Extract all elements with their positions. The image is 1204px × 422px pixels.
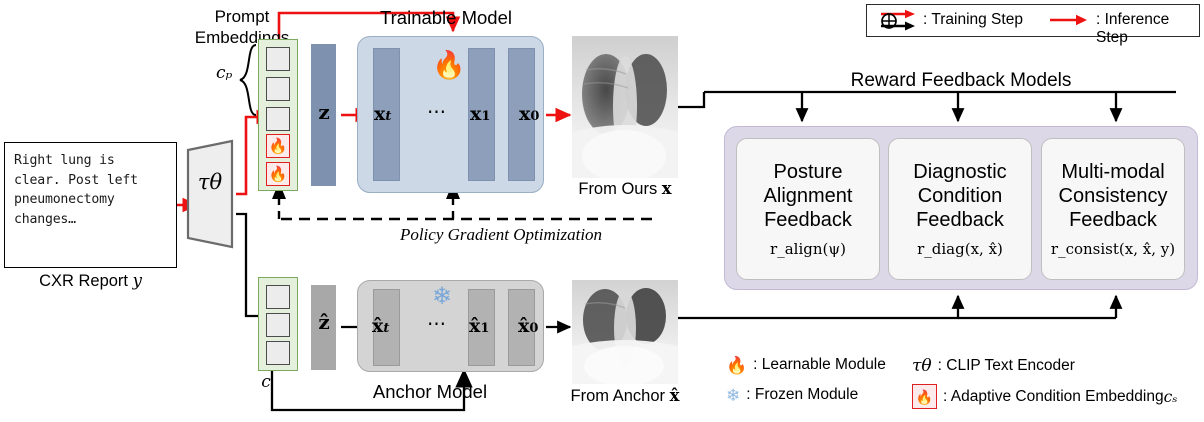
adaptive-condition-fire-icon: 🔥 <box>266 162 290 186</box>
reward-card-title: Diagnostic Condition Feedback <box>913 160 1006 232</box>
clip-text-encoder-shape <box>184 141 236 247</box>
chain-ellipsis: ⋯ <box>427 101 447 124</box>
legend-inference-label: : Inference Step <box>1096 11 1199 47</box>
chain-label-xhat-1: x̂1 <box>469 315 489 337</box>
legend-bottom: 🔥 : Learnable Module ❄ : Frozen Module τ… <box>726 356 1196 418</box>
embedding-square <box>266 107 290 131</box>
chain-label-x0: x0 <box>519 103 539 125</box>
training-step-icon <box>877 8 917 39</box>
cp-label: cₚ <box>216 63 232 83</box>
legend-adaptive-row: 🔥 : Adaptive Condition Embedding cₛ <box>912 384 1178 409</box>
chain-ellipsis: ⋯ <box>427 313 447 336</box>
prompt-embeddings-column-bottom <box>258 277 298 371</box>
embedding-square <box>266 47 290 71</box>
snowflake-icon: ❄ <box>432 285 452 309</box>
reward-card-formula: r_diag(x, x̂) <box>917 240 1003 258</box>
reward-card-title: Multi-modal Consistency Feedback <box>1059 160 1168 232</box>
embedding-square <box>266 285 290 309</box>
prompt-embeddings-column-top: 🔥 🔥 <box>258 39 298 191</box>
boxed-fire-icon: 🔥 <box>912 384 937 409</box>
tau-theta-symbol: τθ <box>912 356 932 376</box>
xray-anchor-symbol: x̂ <box>670 386 680 405</box>
chain-label-xhat-t: x̂t <box>372 315 389 337</box>
clip-text-encoder-label: τθ <box>184 170 236 194</box>
latent-z-label: z <box>305 100 343 124</box>
reward-card: Posture Alignment Feedback r_align(ψ) <box>736 138 880 280</box>
cxr-report-caption: CXR Report y <box>4 271 177 291</box>
embedding-square <box>266 341 290 365</box>
chain-label-xt: xt <box>374 103 391 125</box>
legend-encoder-row: τθ : CLIP Text Encoder <box>912 356 1075 376</box>
reward-card-formula: r_consist(x, x̂, y) <box>1051 240 1175 258</box>
reward-feedback-panel: Posture Alignment Feedback r_align(ψ) Di… <box>724 126 1198 290</box>
snowflake-icon: ❄ <box>726 387 740 404</box>
xray-ours-symbol: x <box>662 179 672 198</box>
chain-label-x1: x1 <box>470 103 490 125</box>
cp-brace-icon <box>238 43 258 117</box>
legend-learnable-row: 🔥 : Learnable Module <box>726 356 886 374</box>
trainable-model-title: Trainable Model <box>296 7 596 29</box>
reward-card-title: Posture Alignment Feedback <box>764 160 853 232</box>
latent-zhat-label: ẑ <box>305 310 343 334</box>
legend-top: : Training Step : Inference Step <box>866 4 1200 37</box>
reward-card: Multi-modal Consistency Feedback r_consi… <box>1041 138 1185 280</box>
legend-learnable-label: : Learnable Module <box>753 356 886 374</box>
c-label: c <box>258 372 274 392</box>
legend-adaptive-label: : Adaptive Condition Embedding <box>943 388 1164 406</box>
reward-card-formula: r_align(ψ) <box>770 240 846 258</box>
chain-label-xhat-0: x̂0 <box>518 315 538 337</box>
inference-arrow-icon <box>1049 13 1089 32</box>
fire-icon: 🔥 <box>726 357 747 374</box>
legend-adaptive-symbol: cₛ <box>1164 388 1178 406</box>
legend-frozen-row: ❄ : Frozen Module <box>726 386 858 404</box>
generated-xray-anchor <box>572 280 678 384</box>
generated-xray-ours <box>572 36 678 178</box>
fire-icon: 🔥 <box>432 52 466 79</box>
xray-anchor-caption: From Anchor x̂ <box>538 386 712 406</box>
cxr-report-box: Right lung is clear. Post left pneumonec… <box>4 142 177 268</box>
anchor-model-title: Anchor Model <box>315 381 545 403</box>
cxr-report-caption-text: CXR Report <box>39 272 133 290</box>
embedding-square <box>266 77 290 101</box>
xray-ours-caption-text: From Ours <box>578 180 661 198</box>
xray-anchor-caption-text: From Anchor <box>571 387 670 405</box>
adaptive-condition-fire-icon: 🔥 <box>266 134 290 158</box>
xray-ours-caption: From Ours x <box>538 179 712 199</box>
legend-training-label: : Training Step <box>923 11 1023 29</box>
reward-card: Diagnostic Condition Feedback r_diag(x, … <box>888 138 1032 280</box>
policy-gradient-label: Policy Gradient Optimization <box>336 225 666 245</box>
cxr-report-text: Right lung is clear. Post left pneumonec… <box>14 151 169 229</box>
embedding-square <box>266 313 290 337</box>
cxr-report-symbol: y <box>133 271 142 290</box>
legend-frozen-label: : Frozen Module <box>746 386 858 404</box>
reward-feedback-heading: Reward Feedback Models <box>724 70 1198 92</box>
legend-encoder-label: : CLIP Text Encoder <box>938 357 1075 375</box>
